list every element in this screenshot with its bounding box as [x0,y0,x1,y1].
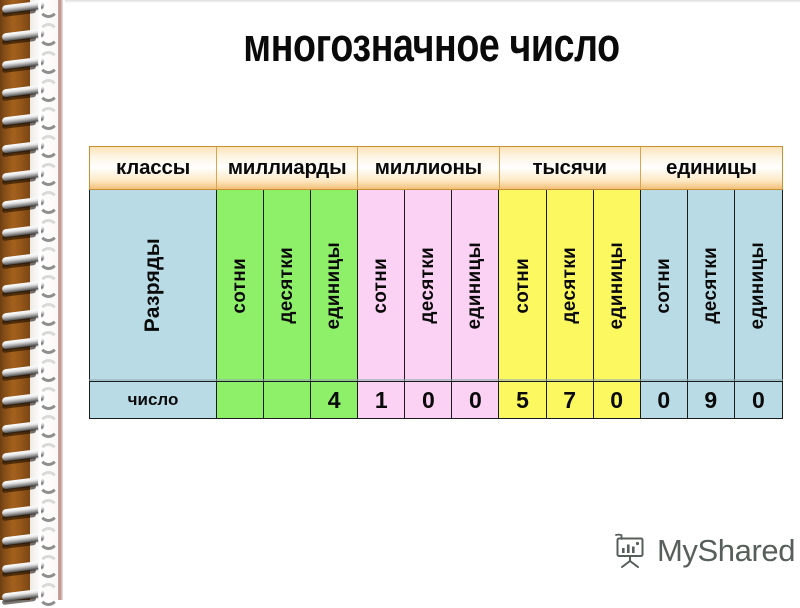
rank-label: единицы [464,242,486,329]
rank-cell-billions-2: единицы [311,190,358,381]
place-value-table: классымиллиардымиллионытысячиединицы Раз… [89,146,783,419]
page-title: многозначное число [137,14,727,76]
rank-label: сотни [370,258,392,314]
digit-cell-thousands-2: 0 [594,382,641,418]
number-row-label-cell: число [90,382,217,418]
digit-cell-units-1: 9 [688,382,735,418]
rank-label: сотни [229,258,251,314]
spiral-coil [2,246,56,272]
rank-label: единицы [323,242,345,329]
header-thousands: тысячи [500,147,641,189]
digit-cell-units-0: 0 [641,382,688,418]
rank-label: сотни [512,258,534,314]
header-units: единицы [641,147,782,189]
myshared-logo-text: MyShared [657,533,795,569]
spiral-coil [2,358,56,384]
spiral-coil [2,442,56,468]
spiral-coil [2,498,56,524]
spiral-coil [2,470,56,496]
notebook-spiral-binding [0,0,58,600]
spiral-coil [2,106,56,132]
rank-cell-millions-1: десятки [405,190,452,381]
rank-label: десятки [417,247,439,324]
header-billions: миллиарды [217,147,358,189]
rank-cell-thousands-0: сотни [499,190,546,381]
digit-cell-millions-0: 1 [358,382,405,418]
spiral-coil [2,190,56,216]
rank-label: десятки [700,247,722,324]
header-classes: классы [90,147,217,189]
digit-cell-billions-1 [264,382,311,418]
digit-value: 0 [657,387,670,414]
spiral-coil [2,162,56,188]
rank-label: десятки [276,247,298,324]
rank-cell-millions-2: единицы [452,190,499,381]
digit-value: 1 [375,387,388,414]
spiral-coil [2,22,56,48]
digit-cell-billions-0 [217,382,264,418]
myshared-logo: MyShared [612,532,795,570]
digit-value: 0 [469,387,482,414]
digit-cell-thousands-0: 5 [499,382,546,418]
rank-cell-units-1: десятки [688,190,735,381]
rank-label: единицы [747,242,769,329]
number-row-label: число [128,390,179,410]
digit-value: 7 [563,387,576,414]
spiral-coil [2,526,56,552]
rank-cell-units-2: единицы [735,190,782,381]
rank-label: десятки [559,247,581,324]
rank-cell-billions-1: десятки [264,190,311,381]
table-ranks-row: Разрядысотнидесяткиединицысотнидесяткиед… [89,190,783,382]
page-top-shadow [63,0,800,3]
digit-value: 0 [422,387,435,414]
spiral-coil [2,386,56,412]
table-header-row: классымиллиардымиллионытысячиединицы [89,146,783,190]
spiral-coil [2,554,56,580]
spiral-coil [2,274,56,300]
header-millions: миллионы [358,147,499,189]
spiral-coil [2,134,56,160]
digit-cell-thousands-1: 7 [547,382,594,418]
spiral-coil [2,0,56,20]
digit-value: 5 [516,387,529,414]
rank-cell-millions-0: сотни [358,190,405,381]
digit-value: 0 [610,387,623,414]
digit-cell-units-2: 0 [735,382,782,418]
spiral-coil [2,78,56,104]
presentation-chart-icon [612,532,648,570]
spiral-coil [2,582,56,608]
rank-cell-units-0: сотни [641,190,688,381]
digit-value: 4 [328,387,341,414]
page-seam-highlight [63,0,65,600]
rank-cell-thousands-1: десятки [547,190,594,381]
rank-cell-billions-0: сотни [217,190,264,381]
digit-cell-billions-2: 4 [311,382,358,418]
digit-cell-millions-1: 0 [405,382,452,418]
spiral-coil [2,414,56,440]
spiral-coil [2,218,56,244]
digit-value: 9 [704,387,717,414]
spiral-coil [2,330,56,356]
spiral-coil [2,50,56,76]
rank-label: сотни [653,258,675,314]
table-number-row: число4100570090 [89,382,783,419]
digit-cell-millions-2: 0 [452,382,499,418]
ranks-row-label: Разряды [141,238,165,332]
rank-label: единицы [606,242,628,329]
ranks-row-label-cell: Разряды [90,190,217,381]
rank-cell-thousands-2: единицы [594,190,641,381]
spiral-coil [2,302,56,328]
digit-value: 0 [752,387,765,414]
